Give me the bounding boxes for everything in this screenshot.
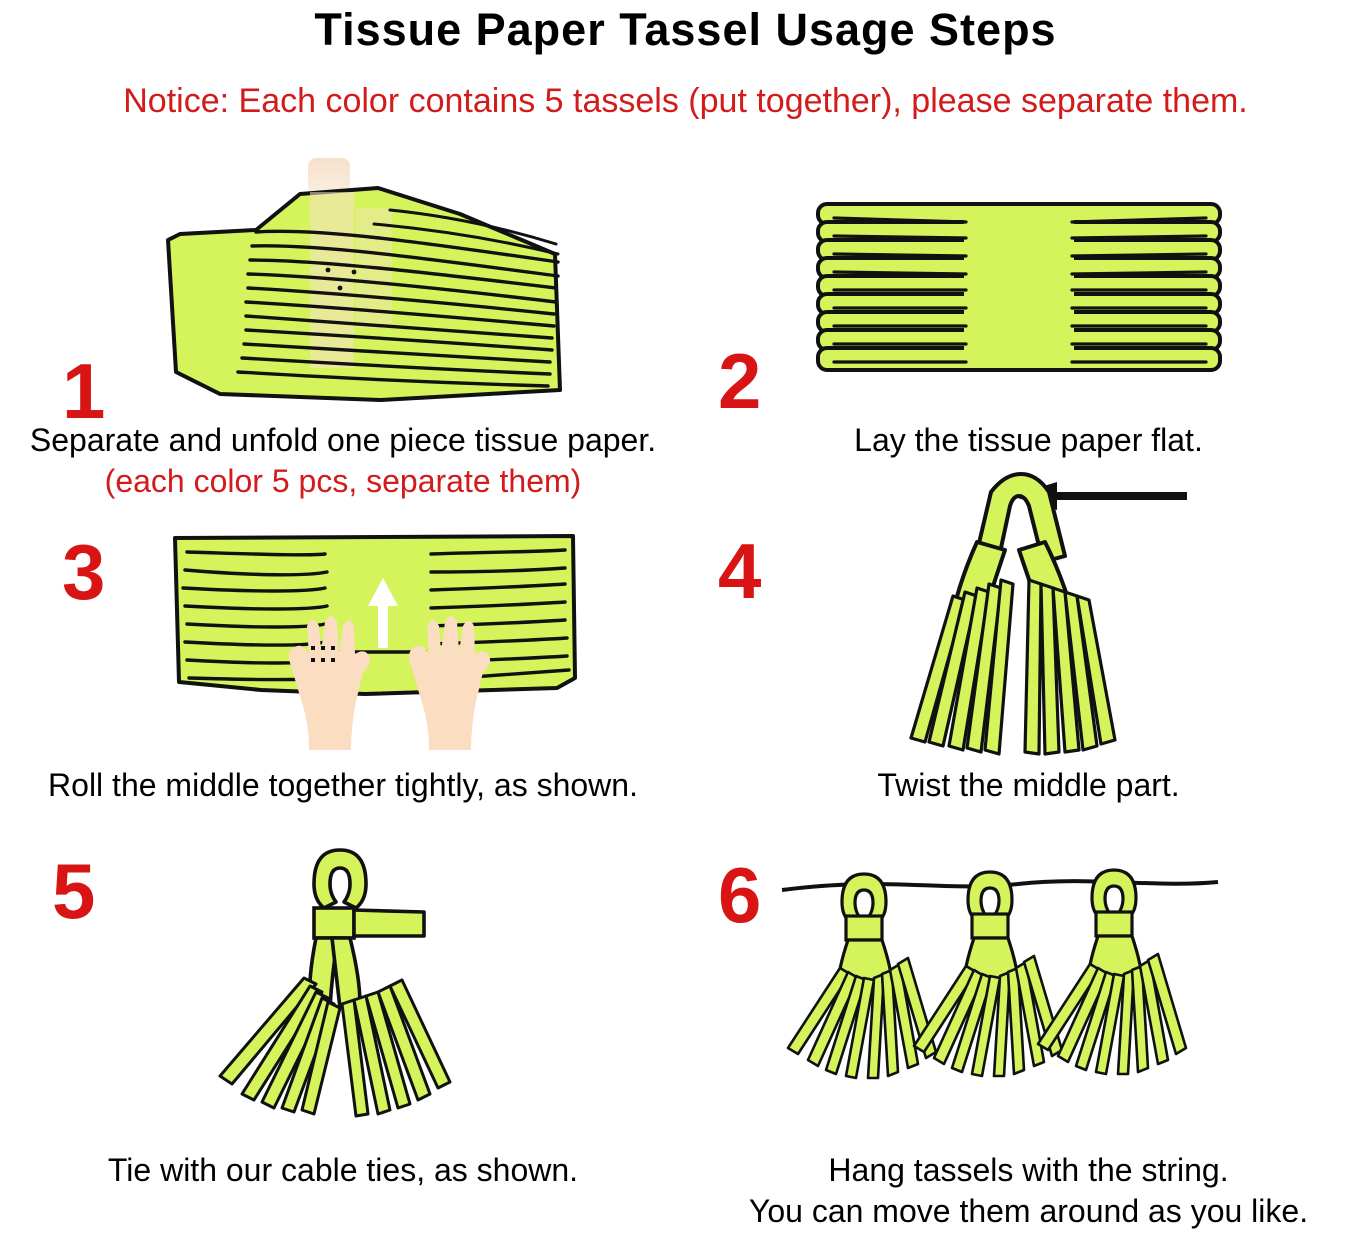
- cable-tie-icon: [314, 908, 424, 938]
- step-1-caption-line2: (each color 5 pcs, separate them): [0, 461, 686, 502]
- step-5: 5 Tie with our cable ties, as sho: [0, 840, 686, 1240]
- step-3-caption-line1: Roll the middle together tightly, as sho…: [0, 765, 686, 806]
- step-6-illustration: [780, 858, 1220, 1108]
- step-2-illustration: [814, 200, 1224, 380]
- step-1-illustration: [160, 158, 580, 408]
- step-2-caption-line1: Lay the tissue paper flat.: [686, 420, 1371, 461]
- step-4: 4 Twist the middle part.: [686, 460, 1371, 815]
- step-6: 6: [686, 840, 1371, 1240]
- step-5-number: 5: [52, 852, 95, 930]
- step-3-caption: Roll the middle together tightly, as sho…: [0, 765, 686, 806]
- step-1: 1: [0, 150, 686, 550]
- step-4-caption: Twist the middle part.: [686, 765, 1371, 806]
- step-3: 3: [0, 525, 686, 815]
- step-4-caption-line1: Twist the middle part.: [686, 765, 1371, 806]
- step-4-number: 4: [718, 532, 761, 610]
- step-2-caption: Lay the tissue paper flat.: [686, 420, 1371, 461]
- step-3-number: 3: [62, 533, 105, 611]
- page-title: Tissue Paper Tassel Usage Steps: [0, 4, 1371, 56]
- step-3-illustration: [165, 530, 585, 755]
- step-4-illustration: [881, 468, 1231, 758]
- step-1-caption: Separate and unfold one piece tissue pap…: [0, 420, 686, 502]
- notice-text: Notice: Each color contains 5 tassels (p…: [0, 82, 1371, 121]
- step-1-caption-line1: Separate and unfold one piece tissue pap…: [0, 420, 686, 461]
- hanging-tassel-1: [788, 874, 936, 1078]
- step-2-number: 2: [718, 342, 761, 420]
- step-6-caption-line1: Hang tassels with the string.: [686, 1150, 1371, 1191]
- step-1-number: 1: [62, 352, 105, 430]
- step-5-caption: Tie with our cable ties, as shown.: [0, 1150, 686, 1191]
- step-6-caption-line2: You can move them around as you like.: [686, 1191, 1371, 1232]
- step-5-caption-line1: Tie with our cable ties, as shown.: [0, 1150, 686, 1191]
- step-5-illustration: [210, 840, 510, 1125]
- step-6-caption: Hang tassels with the string. You can mo…: [686, 1150, 1371, 1232]
- step-6-number: 6: [718, 856, 761, 934]
